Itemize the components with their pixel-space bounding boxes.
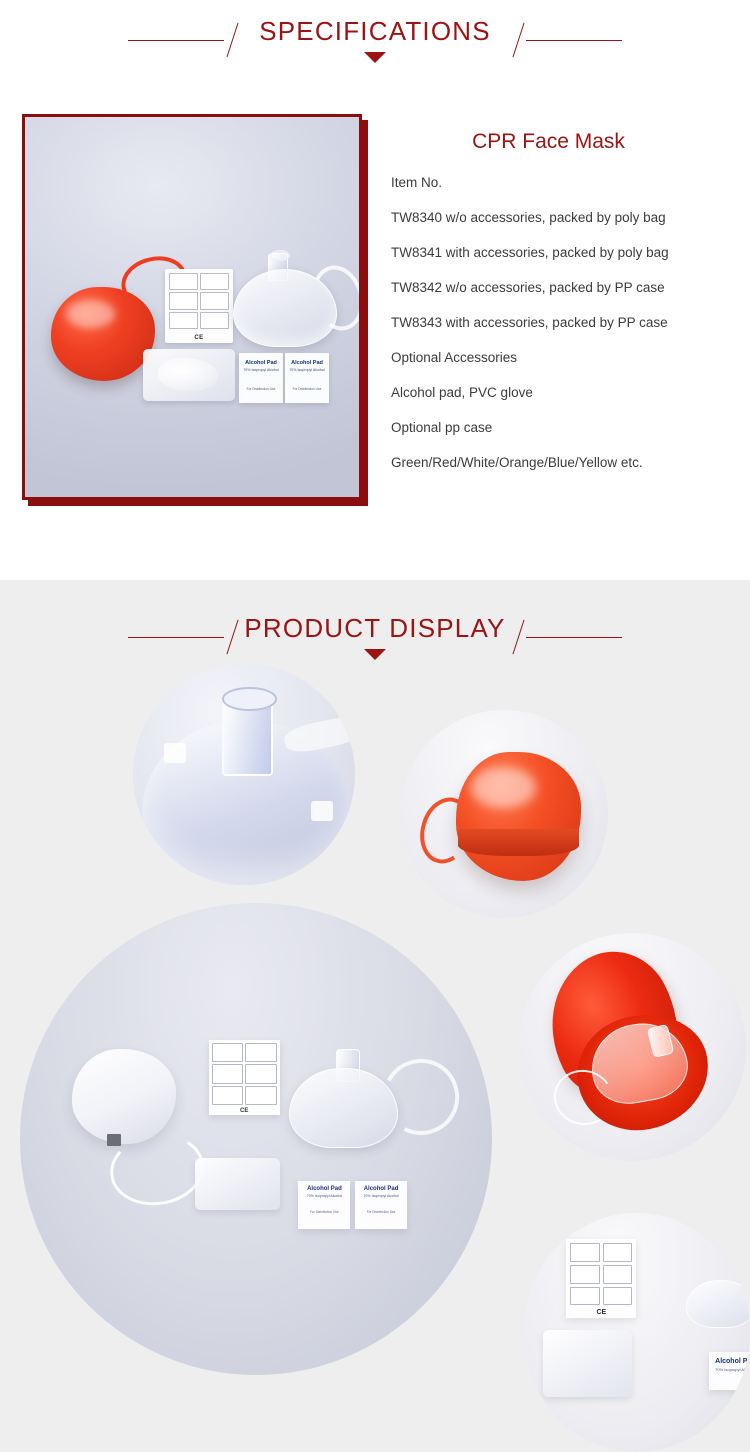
spec-line: Optional Accessories: [391, 351, 736, 365]
product-name: CPR Face Mask: [391, 130, 736, 154]
alcohol-pad-title: Alcohol Pad: [298, 1186, 350, 1192]
alcohol-pad-sub: 70% Isopropyl Alcohol: [285, 368, 329, 372]
spec-line: TW8343 with accessories, packed by PP ca…: [391, 316, 736, 330]
specifications-header: SPECIFICATIONS: [0, 0, 750, 78]
alcohol-pad-note: For Disinfection Use: [355, 1210, 407, 1214]
display-photo-orange-case: [400, 710, 608, 918]
spec-line: TW8340 w/o accessories, packed by poly b…: [391, 211, 736, 225]
spec-line: Optional pp case: [391, 421, 736, 435]
specification-product-photo: CE Alcohol Pad 70% Isopropyl Alcohol For…: [22, 114, 362, 500]
alcohol-pad-sub: 70% Isopropyl Alcohol: [298, 1194, 350, 1198]
alcohol-pad: Alcohol Pad 70% Isopropyl Alcohol For Di…: [285, 353, 329, 403]
display-photo-mask-port-closeup: [133, 663, 355, 885]
alcohol-pad-title: Alcohol Pad: [239, 360, 283, 366]
alcohol-pad-title: Alcohol Pad: [285, 360, 329, 366]
red-hard-case: [51, 287, 155, 381]
header-rule-right: [526, 40, 622, 41]
section-title: SPECIFICATIONS: [0, 16, 750, 47]
lanyard-clip: [107, 1134, 121, 1145]
alcohol-pad: Alcohol Pad 70% Isopropyl Alcohol For Di…: [239, 353, 283, 403]
instruction-card: CE: [165, 269, 233, 343]
alcohol-pad-sub: 70% Isopropyl Alcohol: [355, 1194, 407, 1198]
alcohol-pad-sub: 70% Isopropyl Alcohol: [239, 368, 283, 372]
alcohol-pad-note: For Disinfection Use: [239, 387, 283, 391]
triangle-down-icon: [364, 649, 386, 660]
header-rule-right: [526, 637, 622, 638]
clear-cpr-mask: [289, 1068, 398, 1148]
spec-line: Item No.: [391, 176, 736, 190]
strap-clip: [164, 743, 186, 763]
product-page: SPECIFICATIONS CE Alcohol Pad 70% Isopro…: [0, 0, 750, 1452]
mask-head-strap: [282, 713, 355, 756]
specification-details: CPR Face Mask Item No. TW8340 w/o access…: [391, 130, 736, 491]
spec-line: Alcohol pad, PVC glove: [391, 386, 736, 400]
spec-line: TW8342 w/o accessories, packed by PP cas…: [391, 281, 736, 295]
alcohol-pad: Alcohol Pad 70% Isopropyl Alcohol For Di…: [298, 1181, 350, 1228]
pvc-glove-bag: [143, 349, 235, 401]
triangle-down-icon: [364, 52, 386, 63]
strap-clip: [311, 801, 333, 821]
section-title: PRODUCT DISPLAY: [0, 613, 750, 644]
alcohol-pad-title: Alcohol Pad: [709, 1358, 750, 1365]
alcohol-pad-sub: 70% Isopropyl Alcohol: [709, 1367, 750, 1372]
display-photo-red-case-open: [518, 933, 746, 1161]
spec-line: TW8341 with accessories, packed by poly …: [391, 246, 736, 260]
alcohol-pad-title: Alcohol Pad: [355, 1186, 407, 1192]
clear-cpr-mask: [686, 1280, 750, 1328]
spec-line: Green/Red/White/Orange/Blue/Yellow etc.: [391, 456, 736, 470]
display-photo-accessories-detail: CE Alcohol Pad 70% Isopropyl Alcohol: [523, 1213, 750, 1452]
instruction-card: CE: [566, 1239, 636, 1318]
alcohol-pad-note: For Disinfection Use: [285, 387, 329, 391]
orange-hard-case: [456, 752, 581, 881]
display-photo-white-kit-full: CE Alcohol Pad 70% Isopropyl Alcohol For…: [20, 903, 492, 1375]
alcohol-pad-note: For Disinfection Use: [298, 1210, 350, 1214]
product-display-header: PRODUCT DISPLAY: [0, 597, 750, 675]
mask-valve-port: [222, 694, 273, 776]
white-hard-case: [72, 1049, 176, 1143]
pvc-glove-bag: [195, 1158, 280, 1210]
specifications-section: SPECIFICATIONS CE Alcohol Pad 70% Isopro…: [0, 0, 750, 580]
ce-mark: CE: [165, 335, 233, 341]
instruction-card: CE: [209, 1040, 280, 1116]
case-lid-seam: [458, 829, 579, 856]
alcohol-pad: Alcohol Pad 70% Isopropyl Alcohol: [709, 1352, 750, 1390]
alcohol-pad: Alcohol Pad 70% Isopropyl Alcohol For Di…: [355, 1181, 407, 1228]
pvc-glove-bag: [543, 1330, 632, 1397]
ce-mark: CE: [566, 1309, 636, 1316]
ce-mark: CE: [209, 1108, 280, 1114]
